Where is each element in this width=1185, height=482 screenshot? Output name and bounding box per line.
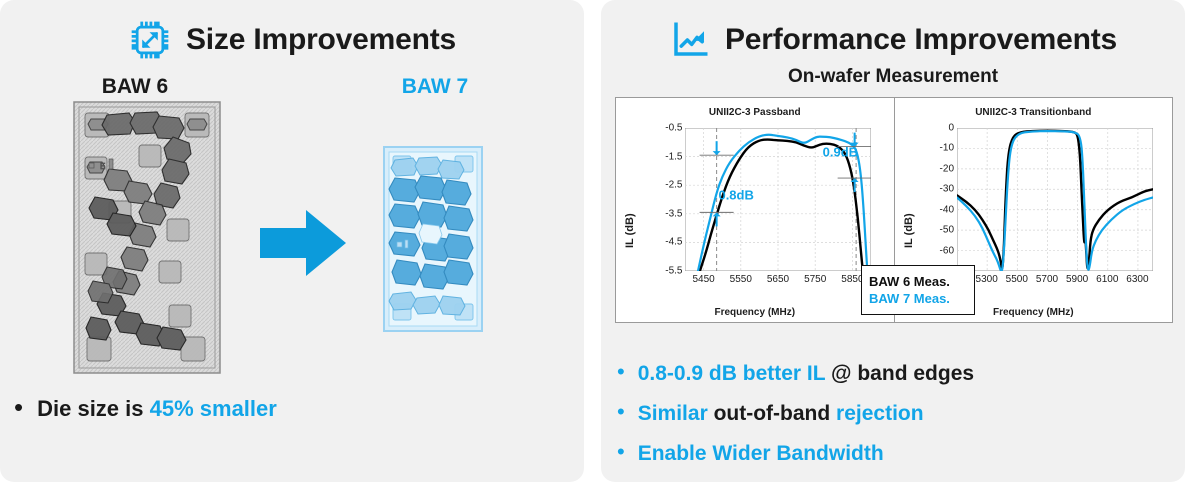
legend-baw6: BAW 6 Meas. <box>869 273 974 290</box>
svg-text:E: E <box>100 162 105 171</box>
chip-resize-icon <box>128 18 172 62</box>
size-improvements-panel: Size Improvements BAW 6 BAW 7 <box>0 0 584 482</box>
y-tick-label: -5.5 <box>665 266 682 277</box>
transitionband-chart-title: UNII2C-3 Transitionband <box>895 107 1173 118</box>
y-tick-label: -10 <box>940 143 954 154</box>
perf-bullet-segment: Similar <box>638 402 714 425</box>
size-bullet-lead: Die size is <box>37 396 150 421</box>
x-tick-label: 5700 <box>1036 274 1058 285</box>
y-tick-label: 0 <box>948 123 954 134</box>
svg-text:0.9dB: 0.9dB <box>823 145 858 160</box>
y-tick-label: -40 <box>940 204 954 215</box>
perf-bullet-text: 0.8-0.9 dB better IL @ band edges <box>638 362 974 386</box>
passband-chart: UNII2C-3 Passband IL (dB) -0.5-1.5-2.5-3… <box>616 98 894 322</box>
y-tick-label: -1.5 <box>665 151 682 162</box>
passband-plot-area: 0.8dB0.9dB <box>685 128 871 271</box>
on-wafer-subtitle: On-wafer Measurement <box>601 66 1185 88</box>
baw6-label: BAW 6 <box>55 75 215 99</box>
transitionband-plot-area <box>957 128 1153 271</box>
perf-bullet-segment: @ band edges <box>831 362 974 385</box>
x-tick-label: 6100 <box>1096 274 1118 285</box>
perf-bullet-segment: 0.8-0.9 dB better IL <box>638 362 831 385</box>
x-tick-label: 5450 <box>692 274 714 285</box>
x-tick-label: 6300 <box>1126 274 1148 285</box>
perf-bullet-item: •0.8-0.9 dB better IL @ band edges <box>617 362 1173 386</box>
y-tick-label: -30 <box>940 184 954 195</box>
y-tick-label: -2.5 <box>665 180 682 191</box>
passband-chart-title: UNII2C-3 Passband <box>616 107 894 118</box>
x-tick-label: 5550 <box>730 274 752 285</box>
x-tick-label: 5650 <box>767 274 789 285</box>
perf-bullet-text: Similar out-of-band rejection <box>638 402 924 426</box>
svg-text:0.8dB: 0.8dB <box>718 188 753 203</box>
perf-bullet-item: •Similar out-of-band rejection <box>617 402 1173 426</box>
baw7-label: BAW 7 <box>355 75 515 99</box>
chart-legend: BAW 6 Meas. BAW 7 Meas. <box>861 265 975 315</box>
right-arrow-icon <box>260 206 346 280</box>
perf-bullet-segment: rejection <box>836 402 924 425</box>
y-tick-label: -3.5 <box>665 208 682 219</box>
transitionband-y-axis-title: IL (dB) <box>903 213 915 248</box>
perf-bullet-text: Enable Wider Bandwidth <box>638 442 884 466</box>
perf-panel-title: Performance Improvements <box>725 23 1117 57</box>
perf-bullet-segment: Enable Wider Bandwidth <box>638 442 884 465</box>
size-panel-header: Size Improvements <box>0 14 584 66</box>
bullet-marker: • <box>617 402 625 422</box>
line-chart-up-icon <box>669 19 711 61</box>
baw7-die-image <box>383 146 483 332</box>
size-panel-title: Size Improvements <box>186 23 456 57</box>
passband-x-axis-title: Frequency (MHz) <box>616 307 894 318</box>
size-bullet-highlight: 45% smaller <box>150 396 277 421</box>
x-tick-label: 5300 <box>976 274 998 285</box>
bullet-marker: • <box>617 442 625 462</box>
y-tick-label: -50 <box>940 225 954 236</box>
y-tick-label: -4.5 <box>665 237 682 248</box>
perf-panel-header: Performance Improvements <box>601 14 1185 66</box>
bullet-marker: • <box>14 396 23 418</box>
y-tick-label: -60 <box>940 245 954 256</box>
passband-y-axis-title: IL (dB) <box>624 213 636 248</box>
size-bullet-item: • Die size is 45% smaller <box>14 396 574 422</box>
baw6-die-image: E <box>73 101 221 374</box>
perf-bullet-segment: out-of-band <box>714 402 836 425</box>
x-tick-label: 5500 <box>1006 274 1028 285</box>
x-tick-label: 5900 <box>1066 274 1088 285</box>
slide-root: Size Improvements BAW 6 BAW 7 <box>0 0 1185 482</box>
y-tick-label: -20 <box>940 163 954 174</box>
y-tick-label: -0.5 <box>665 123 682 134</box>
x-tick-label: 5750 <box>804 274 826 285</box>
perf-bullet-item: •Enable Wider Bandwidth <box>617 442 1173 466</box>
size-bullet-text: Die size is 45% smaller <box>37 396 277 422</box>
charts-frame: UNII2C-3 Passband IL (dB) -0.5-1.5-2.5-3… <box>615 97 1173 323</box>
performance-improvements-panel: Performance Improvements On-wafer Measur… <box>601 0 1185 482</box>
legend-baw7: BAW 7 Meas. <box>869 290 974 307</box>
performance-bullet-list: •0.8-0.9 dB better IL @ band edges•Simil… <box>617 362 1173 482</box>
bullet-marker: • <box>617 362 625 382</box>
